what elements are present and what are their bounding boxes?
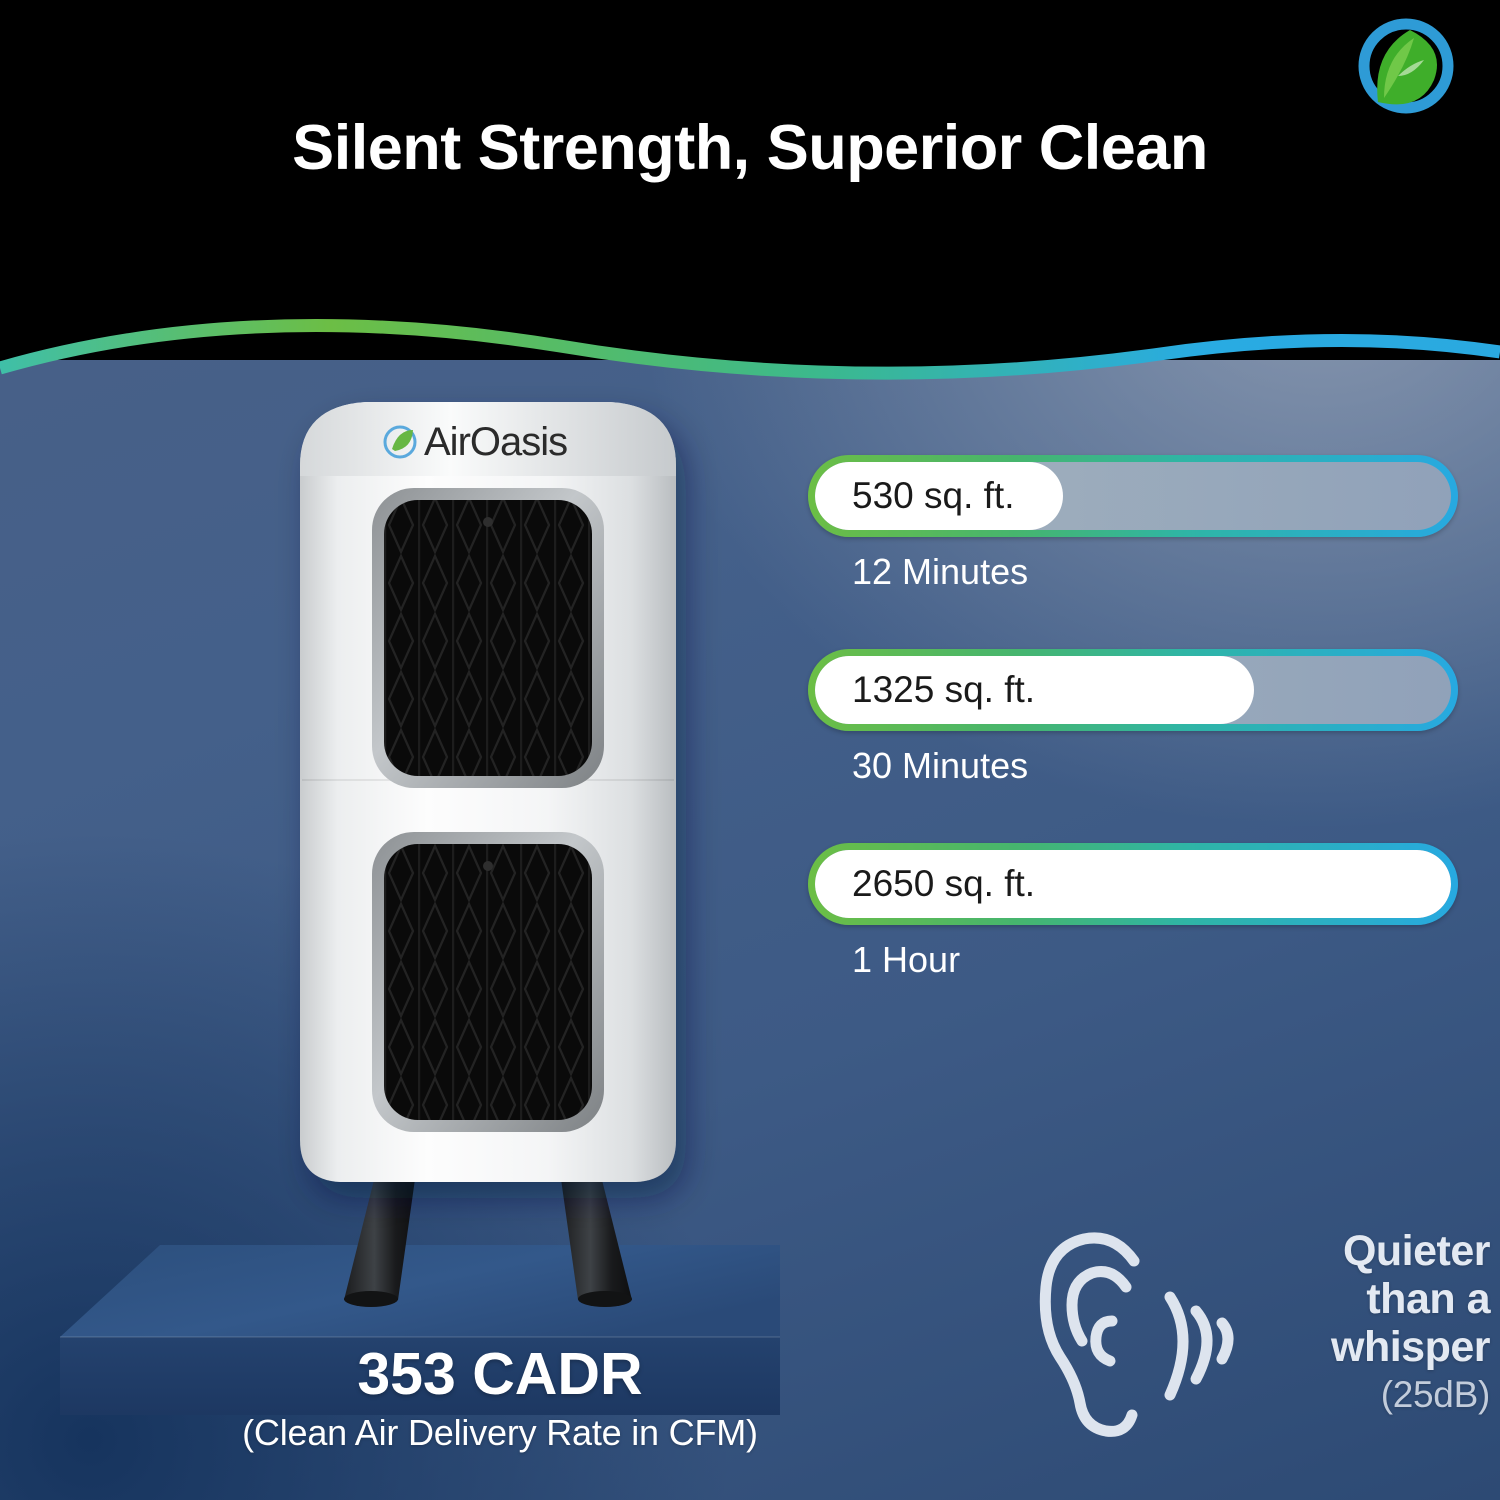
quiet-line-3: whisper xyxy=(1252,1323,1490,1371)
coverage-bar-caption-2: 30 Minutes xyxy=(852,745,1460,787)
quiet-claim-text: Quieter than a whisper (25dB) xyxy=(1252,1227,1490,1416)
page-title: Silent Strength, Superior Clean xyxy=(0,112,1500,184)
product-legs xyxy=(344,1172,632,1307)
coverage-bar-caption-1: 12 Minutes xyxy=(852,551,1460,593)
svg-text:AirOasis: AirOasis xyxy=(424,420,567,464)
ear-with-sound-waves-icon xyxy=(1030,1225,1240,1450)
air-purifier-product-image: AirOasis xyxy=(248,380,728,1310)
coverage-bar-value-3: 2650 sq. ft. xyxy=(852,843,1035,925)
quiet-line-1: Quieter xyxy=(1252,1227,1490,1275)
quiet-line-2: than a xyxy=(1252,1275,1490,1323)
quiet-claim-block: Quieter than a whisper (25dB) xyxy=(1030,1225,1490,1475)
coverage-bar-caption-3: 1 Hour xyxy=(852,939,1460,981)
cadr-subtitle: (Clean Air Delivery Rate in CFM) xyxy=(80,1412,920,1454)
cadr-value: 353 CADR xyxy=(80,1340,920,1408)
coverage-bar-group-3: 2650 sq. ft. 1 Hour xyxy=(808,843,1460,981)
lower-filter-grille xyxy=(372,832,604,1132)
air-oasis-leaf-logo xyxy=(1354,14,1458,118)
cadr-block: 353 CADR (Clean Air Delivery Rate in CFM… xyxy=(80,1340,920,1454)
coverage-bar-group-2: 1325 sq. ft. 30 Minutes xyxy=(808,649,1460,787)
coverage-bar-group-1: 530 sq. ft. 12 Minutes xyxy=(808,455,1460,593)
coverage-bar-track-1: 530 sq. ft. xyxy=(808,455,1458,537)
coverage-bar-track-2: 1325 sq. ft. xyxy=(808,649,1458,731)
quiet-decibel-value: (25dB) xyxy=(1252,1374,1490,1416)
coverage-bar-value-1: 530 sq. ft. xyxy=(852,455,1015,537)
coverage-bar-track-3: 2650 sq. ft. xyxy=(808,843,1458,925)
wave-divider xyxy=(0,290,1500,420)
coverage-bars-group: 530 sq. ft. 12 Minutes 1325 sq. ft. 30 M… xyxy=(808,455,1460,981)
upper-filter-grille xyxy=(372,488,604,788)
infographic-canvas: AirOasis 530 sq. ft. 12 Minutes xyxy=(0,0,1500,1500)
coverage-bar-value-2: 1325 sq. ft. xyxy=(852,649,1035,731)
